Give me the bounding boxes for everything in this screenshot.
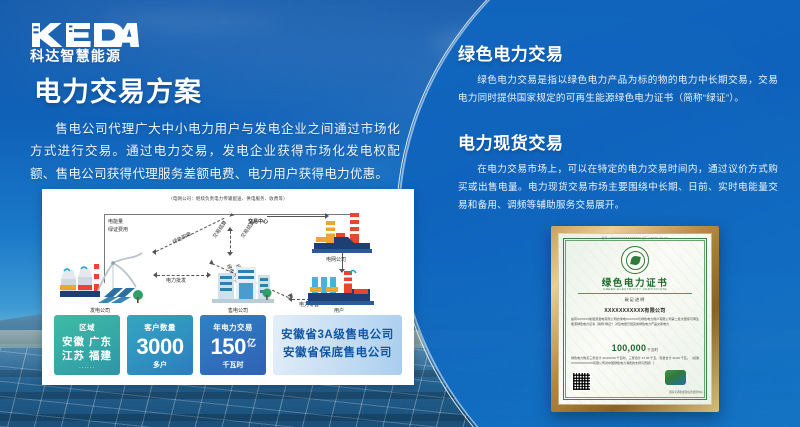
poster-canvas: 科达智慧能源 电力交易方案 售电公司代理广大中小电力用户与发电企业之间通过市场化…: [0, 0, 800, 427]
grid-company-illustration: [310, 211, 374, 255]
section-heading-green-trading: 绿色电力交易: [458, 40, 778, 65]
right-content-column: 绿色电力交易 绿色电力交易是指以绿色电力产品为标的物的电力中长期交易，交易电力同…: [458, 40, 778, 215]
diagram-label-power-wholesale: 电力批发: [166, 278, 186, 285]
certificate-subtitle: 碳足迹明: [558, 297, 712, 303]
power-trading-flow-diagram: 电能量 绿证费用 交易中心 绿色购电 电力批发 交易结算 交易结算: [52, 205, 404, 317]
stat-value: 150: [210, 334, 246, 359]
certificate-stamp-note: 国家可再生能源信息管理中心: [669, 390, 703, 394]
diagram-card: （电网公司：继续负责电力传输配送、供电服务、收费等） 电能量 绿证费用 交易中心…: [42, 189, 414, 385]
banner-line-1: 安徽省3A级售电公司: [281, 327, 394, 345]
certificate-amount-wrap: 100,000千瓦时: [558, 343, 712, 353]
diagram-node-user: 用户: [334, 308, 344, 315]
stat-card-annual-trading: 年电力交易 150亿 千瓦时: [200, 315, 266, 375]
certificate-organization: XXXXXXXXXXX有限公司: [558, 307, 712, 314]
stats-strip: 区域 安徽 广东 江苏 福建 ...... 客户数量 3000 多户 年电力交易…: [54, 315, 402, 375]
stat-region-row-2: 江苏 福建: [62, 350, 112, 363]
certificate-body-text: 兹有XXXXXX新能源发电有限公司的绿电XXXXXX与绿色电力用户有限公司第二批…: [571, 317, 699, 326]
stat-card-region: 区域 安徽 广东 江苏 福建 ......: [54, 315, 120, 375]
keda-wordmark-icon: [30, 22, 142, 48]
retailer-building-illustration: [212, 263, 274, 305]
intro-paragraph: 售电公司代理广大中小电力用户与发电企业之间通过市场化方式进行交易。通过电力交易，…: [30, 118, 400, 185]
left-content-column: 电力交易方案 售电公司代理广大中小电力用户与发电企业之间通过市场化方式进行交易。…: [30, 70, 400, 185]
certificate-body-text-2: 绿色电力购买三家合计 49,000.00 千瓦时，三家合计 47.00 千瓦，售…: [571, 356, 699, 366]
stat-region-dots: ......: [79, 364, 95, 370]
diagram-node-grid: 电网公司: [326, 257, 346, 264]
certificate-amount: 100,000: [612, 343, 647, 353]
green-certificate-photo: 编号：XXXXXXXXXXXXXXXX 出厂：XXXX-XX-XX 绿色电力证书…: [551, 226, 719, 412]
certificate-serial-note: 编号：XXXXXXXXXXXXXXXX 出厂：XXXX-XX-XX: [558, 236, 712, 240]
generation-plant-illustration: [58, 247, 150, 305]
stat-unit: 多户: [153, 360, 167, 370]
user-factory-illustration: [304, 267, 376, 309]
certificate-sheet: 编号：XXXXXXXXXXXXXXXX 出厂：XXXX-XX-XX 绿色电力证书…: [558, 233, 712, 405]
page-title: 电力交易方案: [34, 70, 400, 109]
certificate-title-en: GREEN ELECTRICITY CERTIFICATE: [558, 287, 712, 291]
stat-value: 3000: [136, 336, 183, 358]
certificate-seal-icon: [621, 246, 649, 274]
section-heading-spot-trading: 电力现货交易: [458, 129, 778, 154]
stat-card-customers: 客户数量 3000 多户: [127, 315, 193, 375]
brand-logo: 科达智慧能源: [30, 22, 142, 64]
banner-line-2: 安徽省保底售电公司: [283, 345, 392, 363]
diagram-node-generation: 发电公司: [90, 308, 110, 315]
stat-title: 客户数量: [144, 322, 176, 333]
section-body-spot-trading: 在电力交易市场上，可以在特定的电力交易时间内，通过议价方式购买或出售电量。电力现…: [458, 161, 778, 214]
stat-value-sup: 亿: [247, 338, 256, 348]
section-body-green-trading: 绿色电力交易是指以绿色电力产品为标的物的电力中长期交易，交易电力同时提供国家规定…: [458, 72, 778, 107]
qualification-banner: KEDA 安徽省3A级售电公司 安徽省保底售电公司: [273, 315, 402, 375]
brand-logo-subtitle: 科达智慧能源: [30, 49, 142, 64]
diagram-node-retailer: 售电公司: [228, 308, 248, 315]
stat-value-wrap: 150亿: [210, 336, 255, 358]
stat-title: 年电力交易: [213, 322, 253, 333]
certificate-stamp-icon: [665, 370, 686, 385]
stat-region-row-1: 安徽 广东: [62, 336, 112, 349]
qr-code-icon: [572, 372, 591, 391]
stat-title: 区域: [79, 322, 95, 333]
grid-company-note: （电网公司：继续负责电力传输配送、供电服务、收费等）: [42, 196, 414, 202]
stat-unit: 千瓦时: [223, 360, 244, 370]
diagram-label-energy-fee: 电能量: [108, 219, 123, 226]
certificate-amount-unit: 千瓦时: [647, 348, 658, 352]
diagram-label-green-fee: 绿证费用: [108, 227, 128, 234]
